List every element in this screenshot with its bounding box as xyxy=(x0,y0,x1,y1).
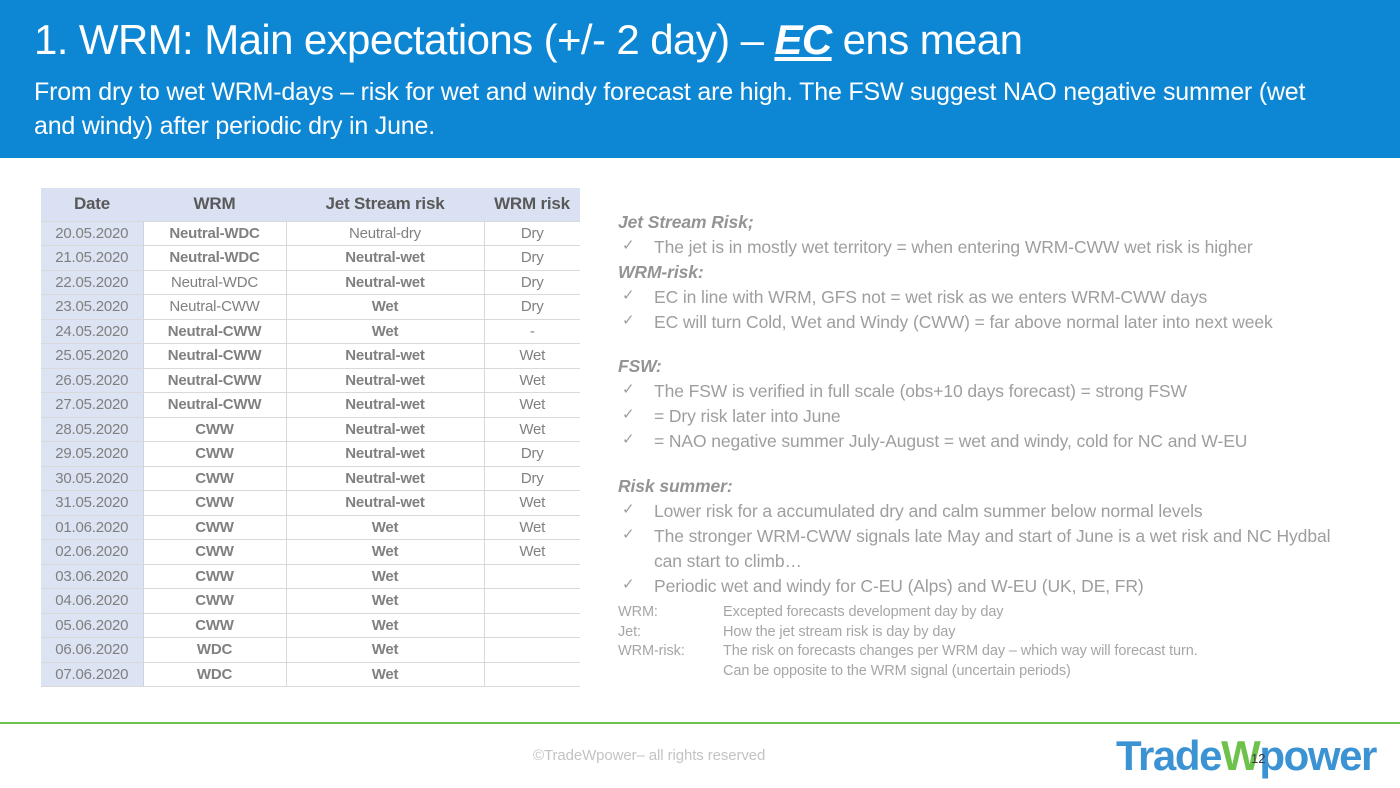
table-row: 01.06.2020CWWWetWet xyxy=(41,515,580,540)
cell-date: 23.05.2020 xyxy=(41,295,143,320)
logo-part-power: power xyxy=(1259,732,1376,779)
cell-date: 25.05.2020 xyxy=(41,344,143,369)
legend-key: WRM-risk: xyxy=(618,642,723,662)
legend-continuation: Can be opposite to the WRM signal (uncer… xyxy=(618,662,1378,682)
note-spacer xyxy=(618,335,1358,354)
cell-date: 20.05.2020 xyxy=(41,221,143,246)
note-section-heading: FSW: xyxy=(618,354,1358,379)
cell-wrm-risk: Dry xyxy=(484,466,580,491)
cell-jet-stream-risk: Wet xyxy=(286,662,484,687)
page-title-prefix: 1. WRM: Main expectations (+/- 2 day) – xyxy=(34,16,774,63)
check-icon: ✓ xyxy=(622,574,634,596)
note-section-heading: Jet Stream Risk; xyxy=(618,210,1358,235)
table-row: 21.05.2020Neutral-WDCNeutral-wetDry xyxy=(41,246,580,271)
cell-date: 01.06.2020 xyxy=(41,515,143,540)
cell-date: 21.05.2020 xyxy=(41,246,143,271)
cell-wrm: Neutral-CWW xyxy=(143,295,286,320)
cell-wrm: CWW xyxy=(143,564,286,589)
cell-wrm: CWW xyxy=(143,417,286,442)
cell-jet-stream-risk: Neutral-dry xyxy=(286,221,484,246)
legend-value: How the jet stream risk is day by day xyxy=(723,623,1378,643)
cell-jet-stream-risk: Neutral-wet xyxy=(286,417,484,442)
note-bullet-item: ✓EC will turn Cold, Wet and Windy (CWW) … xyxy=(618,310,1358,335)
cell-wrm-risk xyxy=(484,662,580,687)
cell-jet-stream-risk: Neutral-wet xyxy=(286,270,484,295)
cell-wrm-risk: Dry xyxy=(484,442,580,467)
logo-part-trade: Trade xyxy=(1116,732,1221,779)
check-icon: ✓ xyxy=(622,379,634,401)
legend-block: WRM:Excepted forecasts development day b… xyxy=(618,603,1378,682)
cell-date: 03.06.2020 xyxy=(41,564,143,589)
cell-wrm-risk: Wet xyxy=(484,540,580,565)
cell-wrm: Neutral-CWW xyxy=(143,319,286,344)
column-header-jet-stream-risk: Jet Stream risk xyxy=(286,188,484,221)
table-row: 07.06.2020WDCWet xyxy=(41,662,580,687)
cell-jet-stream-risk: Wet xyxy=(286,564,484,589)
cell-date: 30.05.2020 xyxy=(41,466,143,491)
cell-wrm: CWW xyxy=(143,442,286,467)
check-icon: ✓ xyxy=(622,499,634,521)
note-bullet-item: ✓Periodic wet and windy for C-EU (Alps) … xyxy=(618,574,1358,599)
cell-date: 06.06.2020 xyxy=(41,638,143,663)
cell-jet-stream-risk: Wet xyxy=(286,613,484,638)
note-bullet-text: The FSW is verified in full scale (obs+1… xyxy=(654,381,1187,401)
cell-wrm-risk xyxy=(484,613,580,638)
column-header-wrm-risk: WRM risk xyxy=(484,188,580,221)
cell-wrm-risk: Wet xyxy=(484,393,580,418)
note-bullet-text: EC will turn Cold, Wet and Windy (CWW) =… xyxy=(654,312,1273,332)
cell-wrm-risk: Wet xyxy=(484,344,580,369)
cell-wrm-risk: Wet xyxy=(484,368,580,393)
slide-root: 1. WRM: Main expectations (+/- 2 day) – … xyxy=(0,0,1400,788)
check-icon: ✓ xyxy=(622,429,634,451)
note-bullet-text: The jet is in mostly wet territory = whe… xyxy=(654,237,1253,257)
page-title-suffix: ens mean xyxy=(832,16,1023,63)
note-bullet-item: ✓The FSW is verified in full scale (obs+… xyxy=(618,379,1358,404)
note-bullet-item: ✓The stronger WRM-CWW signals late May a… xyxy=(618,524,1358,574)
page-number: 12 xyxy=(1251,751,1265,766)
cell-date: 02.06.2020 xyxy=(41,540,143,565)
cell-jet-stream-risk: Neutral-wet xyxy=(286,466,484,491)
tradewpower-logo: TradeWpower xyxy=(1116,733,1376,779)
cell-jet-stream-risk: Neutral-wet xyxy=(286,393,484,418)
column-header-wrm: WRM xyxy=(143,188,286,221)
cell-wrm: CWW xyxy=(143,540,286,565)
cell-wrm: Neutral-CWW xyxy=(143,344,286,369)
table-row: 05.06.2020CWWWet xyxy=(41,613,580,638)
table-row: 03.06.2020CWWWet xyxy=(41,564,580,589)
note-bullet-text: Periodic wet and windy for C-EU (Alps) a… xyxy=(654,576,1144,596)
cell-wrm: WDC xyxy=(143,638,286,663)
wrm-forecast-table: Date WRM Jet Stream risk WRM risk 20.05.… xyxy=(41,188,580,687)
note-section-heading: Risk summer: xyxy=(618,474,1358,499)
legend-key: WRM: xyxy=(618,603,723,623)
table-row: 04.06.2020CWWWet xyxy=(41,589,580,614)
cell-wrm: Neutral-CWW xyxy=(143,393,286,418)
cell-jet-stream-risk: Wet xyxy=(286,515,484,540)
page-title: 1. WRM: Main expectations (+/- 2 day) – … xyxy=(34,16,1022,64)
table-row: 22.05.2020Neutral-WDCNeutral-wetDry xyxy=(41,270,580,295)
check-icon: ✓ xyxy=(622,235,634,257)
cell-wrm: Neutral-WDC xyxy=(143,270,286,295)
legend-value: The risk on forecasts changes per WRM da… xyxy=(723,642,1378,662)
cell-jet-stream-risk: Neutral-wet xyxy=(286,246,484,271)
cell-date: 04.06.2020 xyxy=(41,589,143,614)
cell-date: 27.05.2020 xyxy=(41,393,143,418)
note-bullet-text: EC in line with WRM, GFS not = wet risk … xyxy=(654,287,1207,307)
legend-key: Jet: xyxy=(618,623,723,643)
table-body: 20.05.2020Neutral-WDCNeutral-dryDry21.05… xyxy=(41,221,580,687)
cell-wrm-risk: Dry xyxy=(484,221,580,246)
table-row: 20.05.2020Neutral-WDCNeutral-dryDry xyxy=(41,221,580,246)
cell-wrm-risk: Wet xyxy=(484,515,580,540)
table-row: 25.05.2020Neutral-CWWNeutral-wetWet xyxy=(41,344,580,369)
note-bullet-item: ✓= NAO negative summer July-August = wet… xyxy=(618,429,1358,454)
note-bullet-item: ✓The jet is in mostly wet territory = wh… xyxy=(618,235,1358,260)
table-row: 06.06.2020WDCWet xyxy=(41,638,580,663)
note-bullet-text: = NAO negative summer July-August = wet … xyxy=(654,431,1247,451)
cell-wrm-risk: Dry xyxy=(484,295,580,320)
table-row: 02.06.2020CWWWetWet xyxy=(41,540,580,565)
table-row: 26.05.2020Neutral-CWWNeutral-wetWet xyxy=(41,368,580,393)
table-row: 27.05.2020Neutral-CWWNeutral-wetWet xyxy=(41,393,580,418)
header-banner: 1. WRM: Main expectations (+/- 2 day) – … xyxy=(0,0,1400,158)
cell-jet-stream-risk: Neutral-wet xyxy=(286,368,484,393)
table-header-row: Date WRM Jet Stream risk WRM risk xyxy=(41,188,580,221)
page-title-emphasis: EC xyxy=(774,16,831,63)
cell-wrm: CWW xyxy=(143,613,286,638)
table-header: Date WRM Jet Stream risk WRM risk xyxy=(41,188,580,221)
cell-jet-stream-risk: Wet xyxy=(286,638,484,663)
cell-wrm-risk: Dry xyxy=(484,270,580,295)
cell-wrm: CWW xyxy=(143,589,286,614)
cell-wrm: CWW xyxy=(143,466,286,491)
note-bullet-item: ✓EC in line with WRM, GFS not = wet risk… xyxy=(618,285,1358,310)
legend-row: Jet:How the jet stream risk is day by da… xyxy=(618,623,1378,643)
notes-panel: Jet Stream Risk;✓The jet is in mostly we… xyxy=(618,210,1358,599)
cell-wrm: Neutral-WDC xyxy=(143,246,286,271)
cell-wrm-risk xyxy=(484,589,580,614)
note-bullet-text: The stronger WRM-CWW signals late May an… xyxy=(654,526,1330,571)
legend-row: WRM:Excepted forecasts development day b… xyxy=(618,603,1378,623)
note-bullet-text: = Dry risk later into June xyxy=(654,406,841,426)
note-bullet-text: Lower risk for a accumulated dry and cal… xyxy=(654,501,1203,521)
table-row: 31.05.2020CWWNeutral-wetWet xyxy=(41,491,580,516)
cell-wrm-risk: Wet xyxy=(484,491,580,516)
cell-jet-stream-risk: Wet xyxy=(286,295,484,320)
legend-value: Excepted forecasts development day by da… xyxy=(723,603,1378,623)
table-row: 30.05.2020CWWNeutral-wetDry xyxy=(41,466,580,491)
cell-jet-stream-risk: Neutral-wet xyxy=(286,442,484,467)
note-bullet-item: ✓= Dry risk later into June xyxy=(618,404,1358,429)
note-section-heading: WRM-risk: xyxy=(618,260,1358,285)
check-icon: ✓ xyxy=(622,310,634,332)
cell-wrm-risk: - xyxy=(484,319,580,344)
cell-wrm-risk xyxy=(484,564,580,589)
cell-jet-stream-risk: Neutral-wet xyxy=(286,491,484,516)
table-row: 23.05.2020Neutral-CWWWetDry xyxy=(41,295,580,320)
cell-date: 26.05.2020 xyxy=(41,368,143,393)
cell-wrm: Neutral-WDC xyxy=(143,221,286,246)
cell-wrm-risk xyxy=(484,638,580,663)
cell-jet-stream-risk: Wet xyxy=(286,589,484,614)
cell-date: 28.05.2020 xyxy=(41,417,143,442)
note-bullet-item: ✓Lower risk for a accumulated dry and ca… xyxy=(618,499,1358,524)
cell-date: 31.05.2020 xyxy=(41,491,143,516)
cell-jet-stream-risk: Neutral-wet xyxy=(286,344,484,369)
cell-wrm: CWW xyxy=(143,515,286,540)
check-icon: ✓ xyxy=(622,524,634,546)
cell-date: 29.05.2020 xyxy=(41,442,143,467)
cell-wrm-risk: Dry xyxy=(484,246,580,271)
check-icon: ✓ xyxy=(622,404,634,426)
table-row: 29.05.2020CWWNeutral-wetDry xyxy=(41,442,580,467)
check-icon: ✓ xyxy=(622,285,634,307)
table-row: 24.05.2020Neutral-CWWWet- xyxy=(41,319,580,344)
page-subtitle: From dry to wet WRM-days – risk for wet … xyxy=(34,76,1334,143)
cell-date: 07.06.2020 xyxy=(41,662,143,687)
column-header-date: Date xyxy=(41,188,143,221)
table-row: 28.05.2020CWWNeutral-wetWet xyxy=(41,417,580,442)
cell-jet-stream-risk: Wet xyxy=(286,540,484,565)
note-spacer xyxy=(618,455,1358,474)
cell-wrm: CWW xyxy=(143,491,286,516)
cell-wrm-risk: Wet xyxy=(484,417,580,442)
cell-date: 05.06.2020 xyxy=(41,613,143,638)
legend-row: WRM-risk:The risk on forecasts changes p… xyxy=(618,642,1378,662)
cell-date: 22.05.2020 xyxy=(41,270,143,295)
footer-divider xyxy=(0,722,1400,724)
copyright-text: ©TradeWpower– all rights reserved xyxy=(533,747,765,764)
cell-jet-stream-risk: Wet xyxy=(286,319,484,344)
cell-wrm: Neutral-CWW xyxy=(143,368,286,393)
cell-wrm: WDC xyxy=(143,662,286,687)
cell-date: 24.05.2020 xyxy=(41,319,143,344)
logo-text: TradeWpower xyxy=(1116,735,1376,777)
